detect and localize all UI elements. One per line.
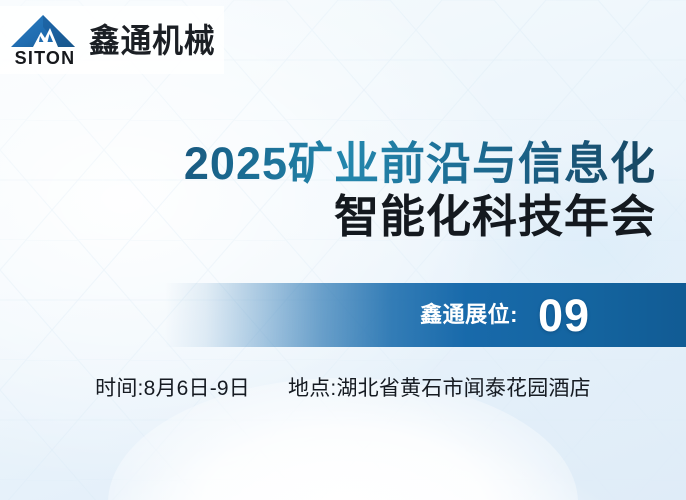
hexagon-pattern-background: [0, 0, 686, 500]
logo-chinese-name: 鑫通机械: [89, 24, 215, 57]
logo-latin-name: SITON: [15, 49, 76, 67]
booth-number: 09: [538, 293, 590, 338]
event-location: 地点:湖北省黄石市闻泰花园酒店: [288, 372, 591, 402]
poster-title: 2025矿业前沿与信息化 智能化科技年会: [16, 140, 656, 242]
booth-label: 鑫通展位:: [420, 304, 518, 326]
booth-banner: 鑫通展位: 09: [0, 283, 686, 347]
event-poster: SITON 鑫通机械 2025矿业前沿与信息化 智能化科技年会 鑫通展位: 09…: [0, 0, 686, 500]
brand-logo: SITON 鑫通机械: [0, 6, 224, 74]
title-line-1: 2025矿业前沿与信息化: [16, 140, 656, 188]
event-info-row: 时间:8月6日-9日 地点:湖北省黄石市闻泰花园酒店: [0, 369, 686, 405]
event-time: 时间:8月6日-9日: [95, 372, 250, 402]
title-line-2: 智能化科技年会: [16, 192, 656, 242]
siton-mountain-mark-icon: SITON: [8, 14, 82, 67]
